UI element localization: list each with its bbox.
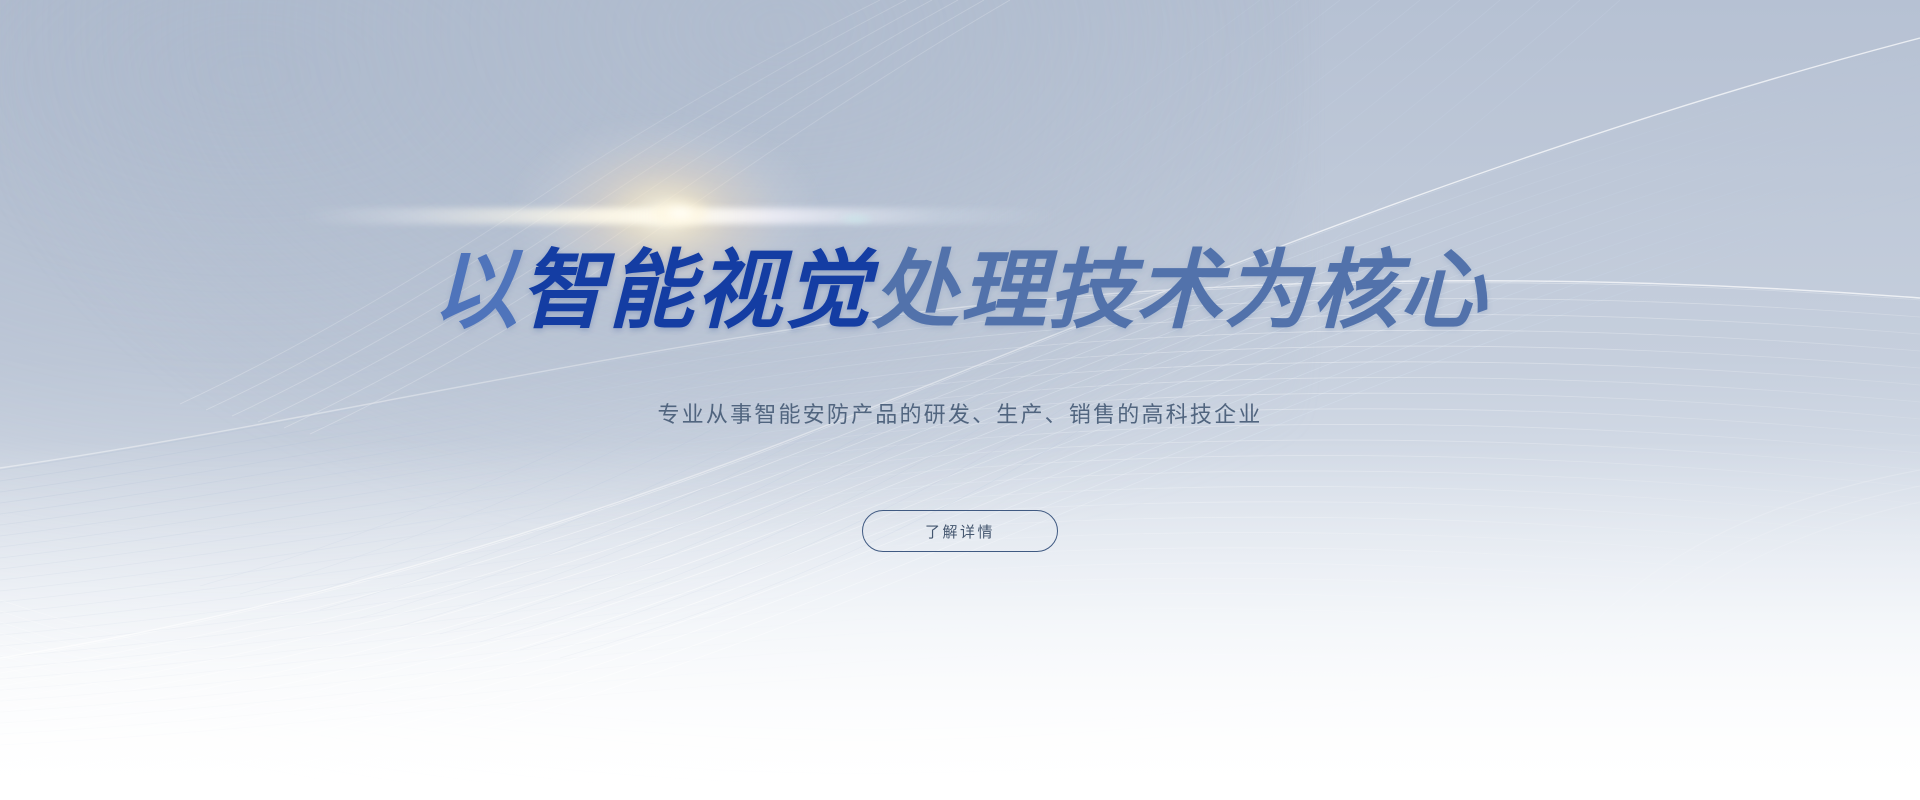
hero-subtitle: 专业从事智能安防产品的研发、生产、销售的高科技企业 [0,398,1920,431]
headline-segment-2: 智能视觉 [520,241,872,341]
hero-banner: 以智能视觉处理技术为核心 专业从事智能安防产品的研发、生产、销售的高科技企业 了… [0,0,1920,800]
cta-container: 了解详情 [0,510,1920,552]
learn-more-button[interactable]: 了解详情 [862,510,1058,552]
headline-segment-3: 处理技术为核心 [872,241,1488,341]
headline-segment-1: 以 [432,241,520,341]
page-title: 以智能视觉处理技术为核心 [0,248,1920,334]
hero-content: 以智能视觉处理技术为核心 专业从事智能安防产品的研发、生产、销售的高科技企业 了… [0,0,1920,800]
